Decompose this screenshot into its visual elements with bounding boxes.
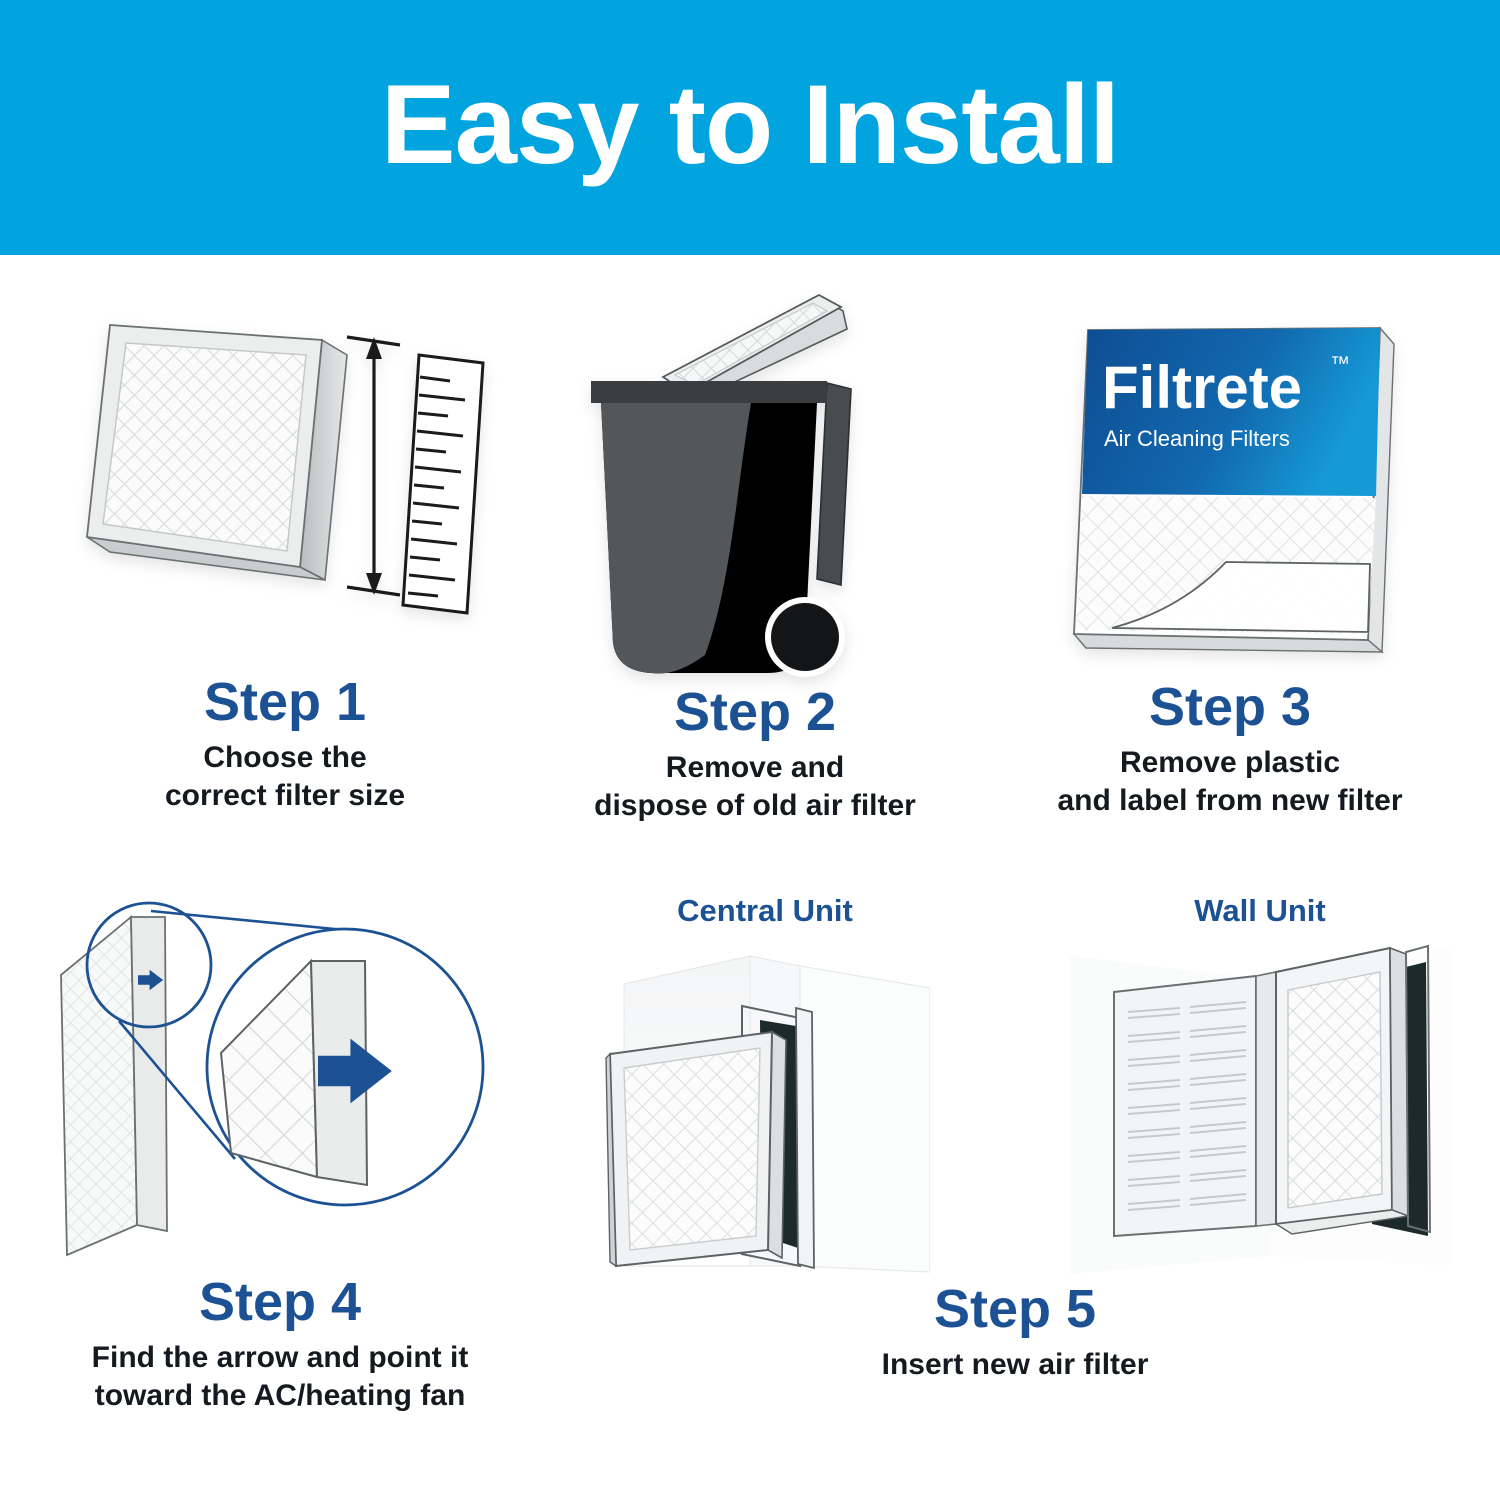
infographic-page: Easy to Install [0,0,1500,1500]
wall-unit-label: Wall Unit [1050,895,1470,926]
step-card-2: Step 2 Remove and dispose of old air fil… [505,285,1005,826]
step-3-description: Remove plastic and label from new filter [980,744,1480,821]
steps-grid: Step 1 Choose the correct filter size [0,255,1500,1500]
step-4-title: Step 4 [30,1275,530,1329]
page-title: Easy to Install [381,69,1119,181]
package-brand-text: Filtrete [1102,354,1302,421]
step-1-title: Step 1 [35,675,535,729]
step-card-3: Filtrete ™ Air Cleaning Filters Step 3 R… [980,300,1480,821]
step-card-1: Step 1 Choose the correct filter size [35,315,535,816]
central-unit-block: Central Unit [560,895,970,1276]
filtrete-package-icon: Filtrete ™ Air Cleaning Filters [1030,300,1430,680]
wall-unit-icon [1070,936,1450,1276]
step-3-illustration: Filtrete ™ Air Cleaning Filters [980,300,1480,680]
central-unit-icon [600,936,930,1276]
step-1-illustration [35,315,535,675]
header-banner: Easy to Install [0,0,1500,255]
package-tagline: Air Cleaning Filters [1104,426,1290,451]
filter-arrow-magnifier-icon [45,895,515,1275]
step-2-title: Step 2 [505,685,1005,739]
step-4-illustration [30,895,530,1275]
central-unit-label: Central Unit [560,895,970,926]
step-5-title: Step 5 [560,1282,1470,1336]
step-3-title: Step 3 [980,680,1480,734]
step-2-illustration [505,285,1005,685]
step-card-5: Central Unit [560,895,1470,1384]
step-5-description: Insert new air filter [560,1346,1470,1384]
step-2-description: Remove and dispose of old air filter [505,749,1005,826]
air-filter-with-ruler-icon [75,315,495,675]
trash-bin-with-old-filter-icon [555,285,955,685]
wall-unit-block: Wall Unit [1050,895,1470,1276]
step-4-description: Find the arrow and point it toward the A… [30,1339,530,1416]
step-card-4: Step 4 Find the arrow and point it towar… [30,895,530,1416]
package-trademark: ™ [1330,353,1350,375]
step-1-description: Choose the correct filter size [35,739,535,816]
